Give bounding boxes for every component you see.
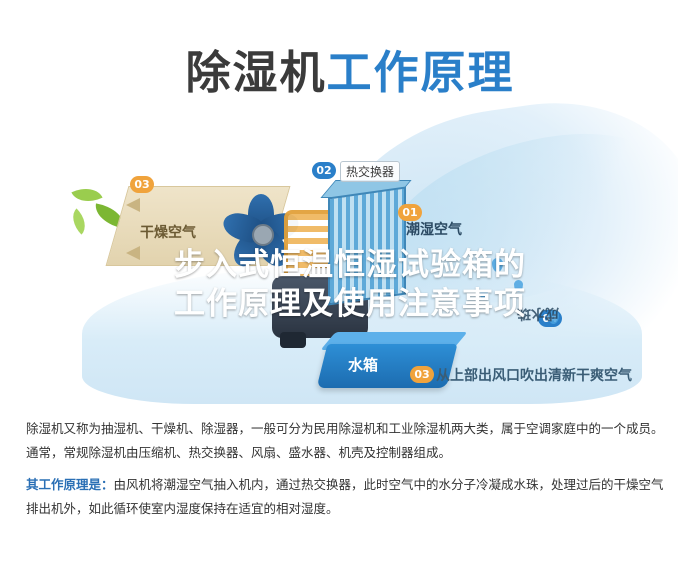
heat-exchanger-label: 热交换器 [340, 161, 400, 182]
article-paragraph-1: 除湿机又称为抽湿机、干燥机、除湿器，一般可分为民用除湿机和工业除湿机两大类，属于… [26, 418, 676, 440]
article-paragraph-3-lead: 其工作原理是： [26, 477, 114, 492]
fan-hub [252, 224, 274, 246]
article-paragraph-2: 通常，常规除湿机由压缩机、热交换器、风扇、盛水器、机壳及控制器组成。 [26, 442, 676, 464]
article-paragraph-3-text: 由风机将潮湿空气抽入机内，通过热交换器，此时空气中的水分子冷凝成水珠，处理过后的… [114, 477, 664, 492]
badge-03-bottom: 03 [410, 366, 434, 383]
article-paragraph-4: 排出机外，如此循环使室内湿度保持在适宜的相对湿度。 [26, 498, 676, 520]
page-root: 除湿机工作原理 干燥空气 03 02 热交换器 01 [0, 0, 700, 566]
badge-02: 02 [312, 162, 336, 179]
badge-03-left: 03 [130, 176, 154, 193]
leaf-icon [66, 208, 92, 234]
dry-air-label: 干燥空气 [140, 222, 196, 242]
article-paragraph-3: 其工作原理是：由风机将潮湿空气抽入机内，通过热交换器，此时空气中的水分子冷凝成水… [26, 474, 676, 496]
illustration-panel: 除湿机工作原理 干燥空气 03 02 热交换器 01 [22, 14, 678, 404]
compressor-foot [280, 332, 306, 348]
article-body: 除湿机又称为抽湿机、干燥机、除湿器，一般可分为民用除湿机和工业除湿机两大类，属于… [26, 418, 676, 522]
illustration-title-part2: 工作原理 [327, 46, 515, 99]
illustration-title: 除湿机工作原理 [22, 36, 678, 101]
paragraph-spacer [26, 466, 676, 474]
water-tank-label: 水箱 [348, 354, 378, 375]
outlet-label: 从上部出风口吹出清新干爽空气 [436, 365, 632, 385]
humid-air-label: 潮湿空气 [406, 219, 462, 239]
airflow-arrow-icon [126, 198, 140, 212]
airflow-arrow-icon [126, 246, 140, 260]
illustration-title-part1: 除湿机 [185, 46, 326, 99]
heat-exchanger-block [328, 187, 406, 306]
